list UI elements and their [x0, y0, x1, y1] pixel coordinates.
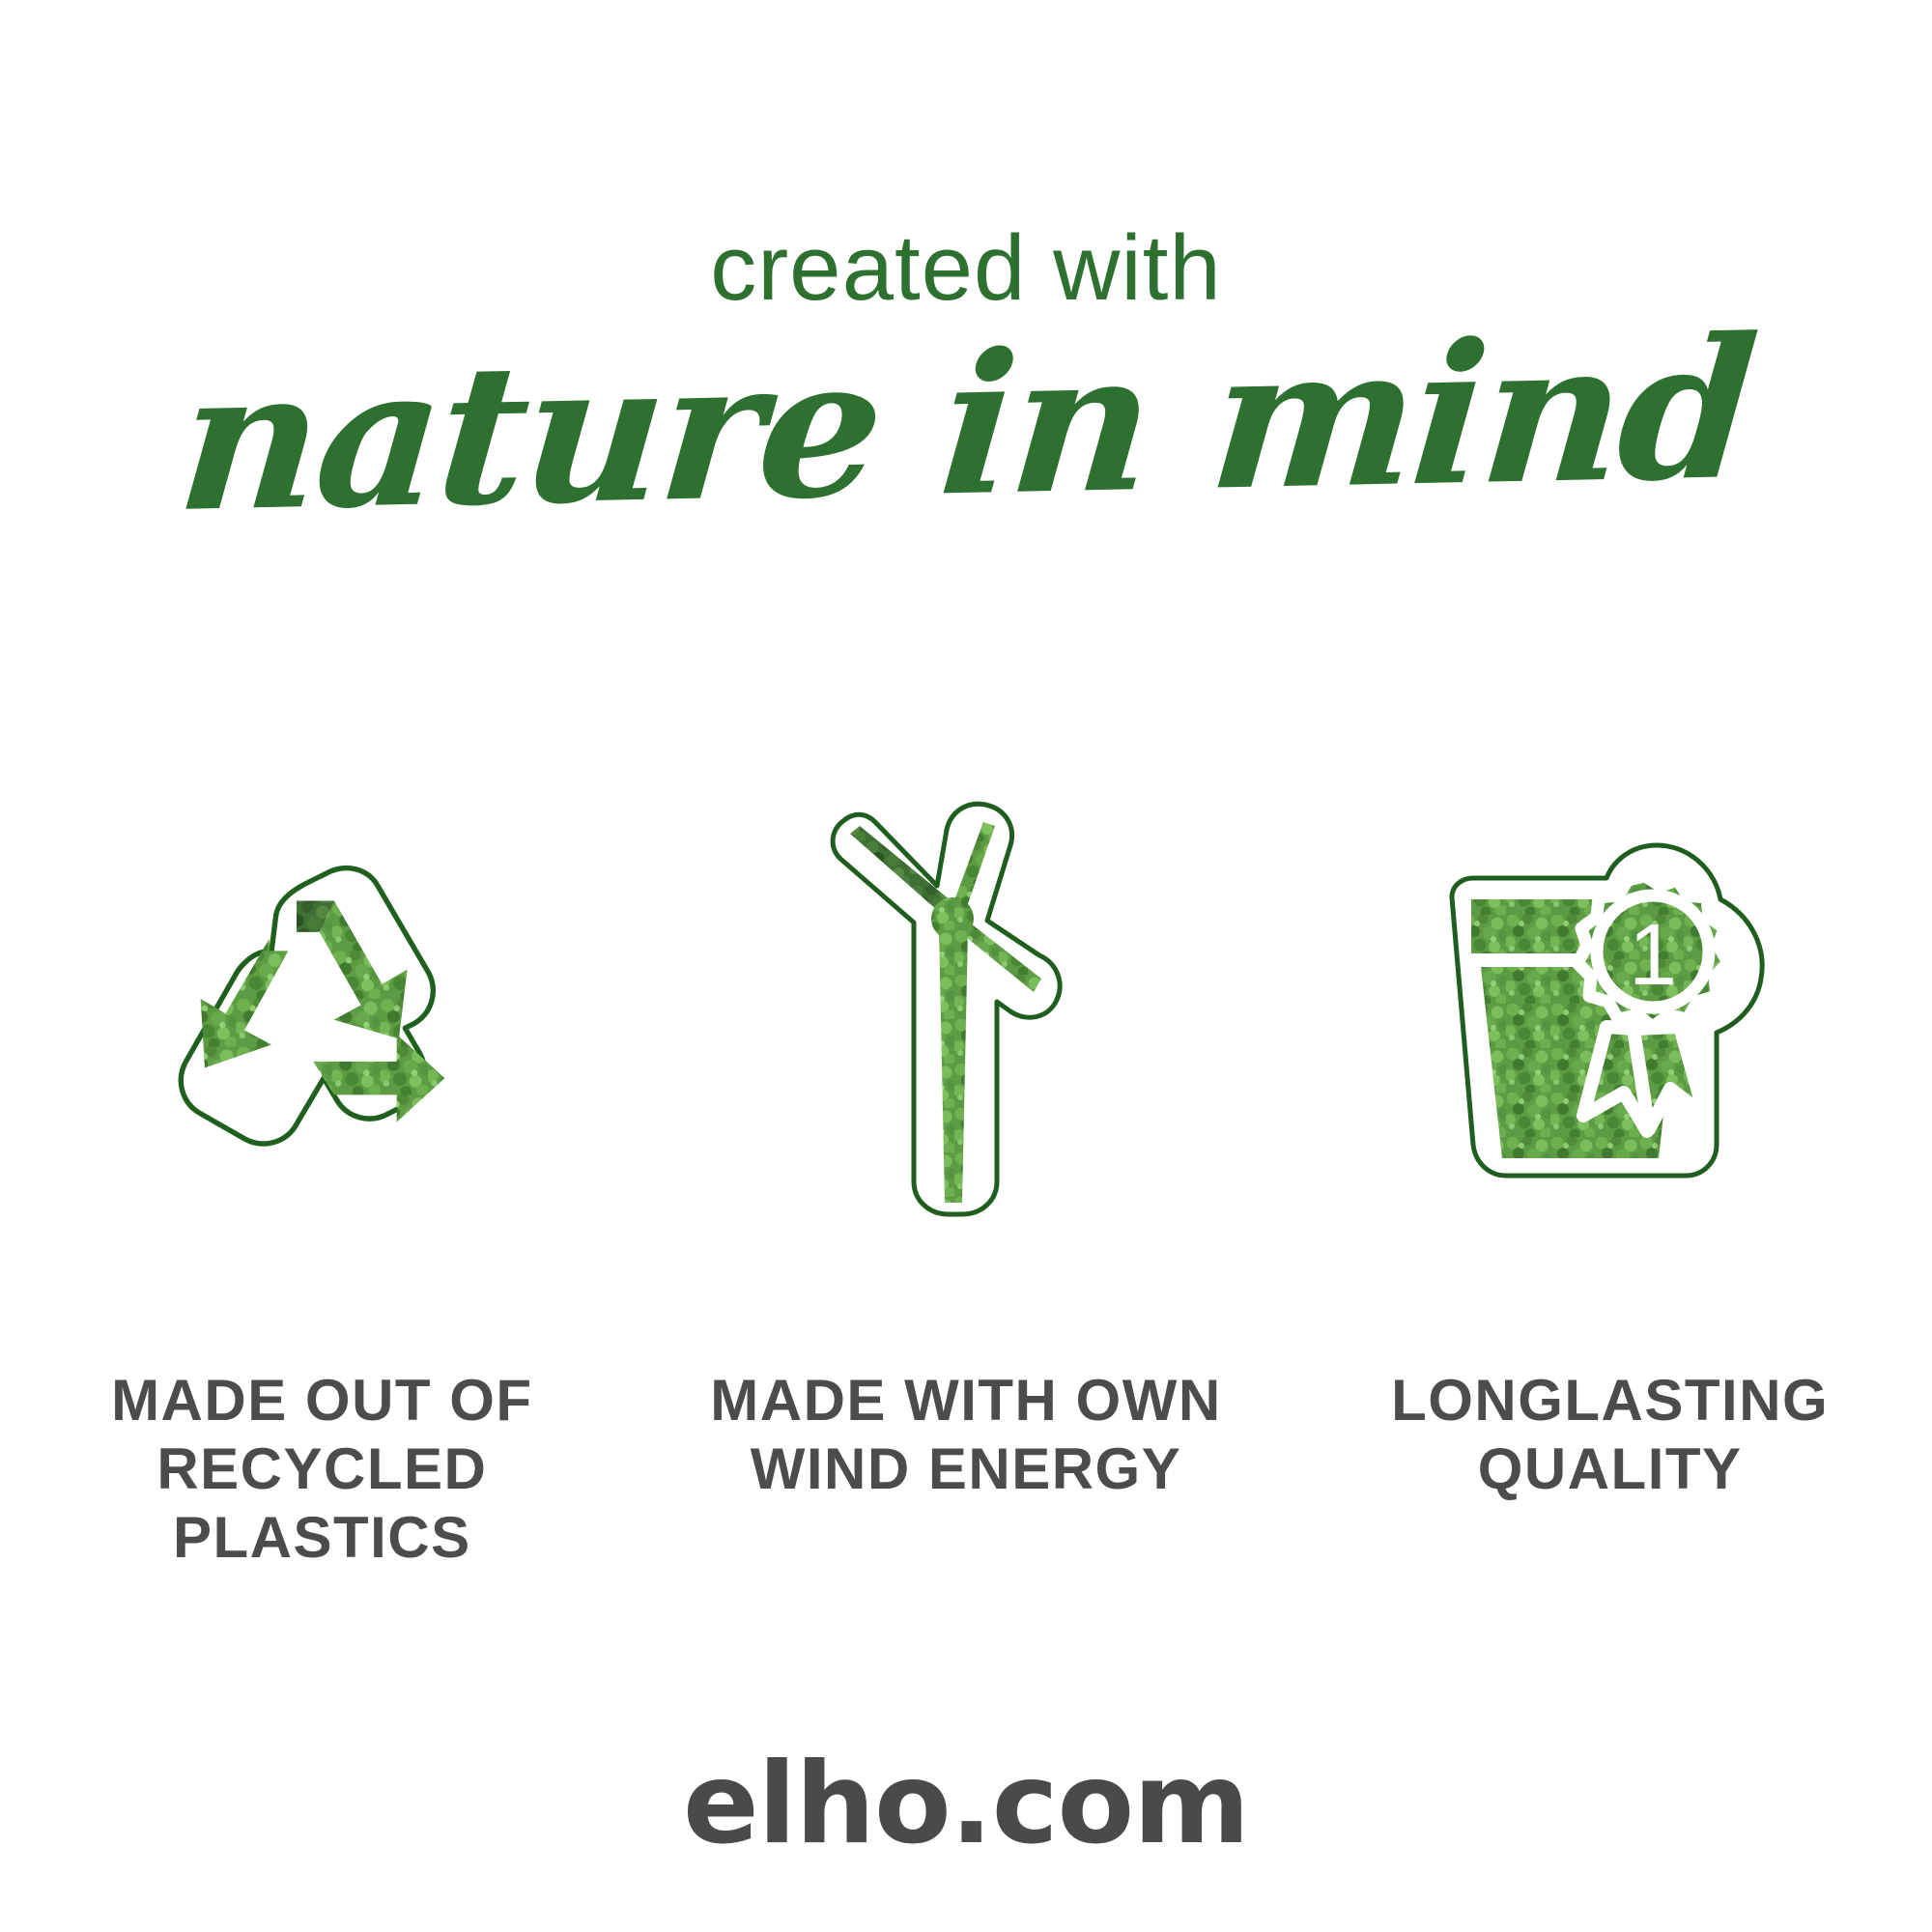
rosette-number: 1 [1629, 907, 1677, 1004]
rosette-medal: 1 [1577, 876, 1728, 1027]
caption-line-1: MADE WITH OWN [696, 1367, 1236, 1435]
feature-caption-row: MADE OUT OF RECYCLED PLASTICS MADE WITH … [0, 1367, 1932, 1572]
caption-line-2: WIND ENERGY [696, 1435, 1236, 1504]
feature-icon-cell-quality: 1 [1340, 792, 1881, 1246]
recycle-icon [119, 816, 525, 1222]
caption-line-2: QUALITY [1340, 1435, 1881, 1504]
caption-line-2: RECYCLED PLASTICS [51, 1435, 592, 1573]
feature-caption-recycle: MADE OUT OF RECYCLED PLASTICS [51, 1367, 592, 1572]
feature-icon-cell-recycle [51, 792, 592, 1246]
wind-turbine-icon [821, 797, 1111, 1241]
feature-caption-quality: LONGLASTING QUALITY [1340, 1367, 1881, 1572]
headline-block: created with nature in mind [0, 222, 1932, 527]
feature-icon-row: 1 [0, 792, 1932, 1246]
caption-line-1: MADE OUT OF [51, 1367, 592, 1435]
feature-icon-cell-wind [696, 792, 1236, 1246]
award-pot-icon: 1 [1417, 826, 1804, 1212]
feature-caption-wind: MADE WITH OWN WIND ENERGY [696, 1367, 1236, 1572]
headline-script: nature in mind [0, 304, 1932, 548]
caption-line-1: LONGLASTING [1340, 1367, 1881, 1435]
brand-logo-elho-com[interactable]: elho.com [0, 1739, 1932, 1869]
